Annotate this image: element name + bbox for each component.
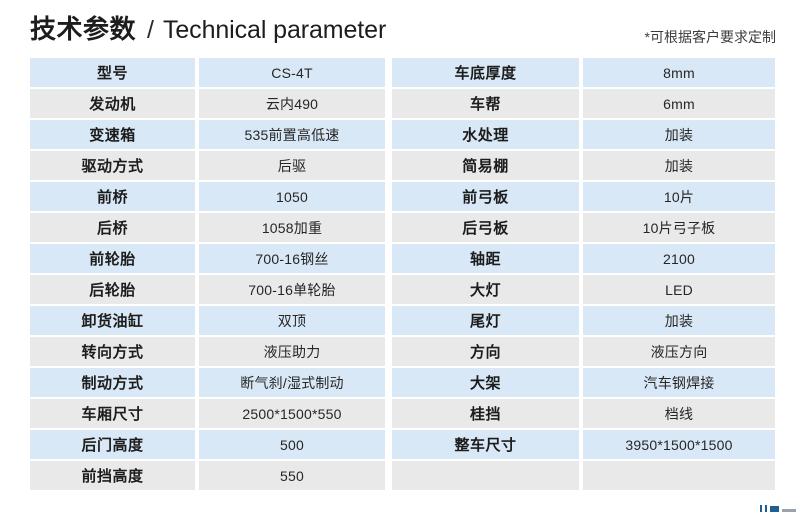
spec-label-cell: 驱动方式 xyxy=(30,151,195,180)
title-separator: / xyxy=(147,16,154,45)
spec-label-cell: 转向方式 xyxy=(30,337,195,366)
spec-value-cell: 10片 xyxy=(583,182,775,211)
spec-label-cell: 后桥 xyxy=(30,213,195,242)
spec-label-cell: 车帮 xyxy=(392,89,579,118)
table-row: 制动方式断气刹/湿式制动 xyxy=(30,368,385,397)
spec-value-cell: 2100 xyxy=(583,244,775,273)
spec-value-cell: 550 xyxy=(199,461,385,490)
spec-value-cell: 535前置高低速 xyxy=(199,120,385,149)
spec-value-cell: 8mm xyxy=(583,58,775,87)
spec-value-cell: 700-16钢丝 xyxy=(199,244,385,273)
spec-label-cell: 大灯 xyxy=(392,275,579,304)
spec-label-cell: 制动方式 xyxy=(30,368,195,397)
spec-value-cell: 双顶 xyxy=(199,306,385,335)
watermark-bar-icon xyxy=(765,505,767,512)
spec-label-cell: 卸货油缸 xyxy=(30,306,195,335)
spec-value-cell: 10片弓子板 xyxy=(583,213,775,242)
table-row: 前挡高度550 xyxy=(30,461,385,490)
spec-value-cell: 1058加重 xyxy=(199,213,385,242)
table-row: 大架汽车钢焊接 xyxy=(392,368,775,397)
table-row: 尾灯加装 xyxy=(392,306,775,335)
spec-label-cell: 型号 xyxy=(30,58,195,87)
spec-label-cell: 水处理 xyxy=(392,120,579,149)
spec-label-cell: 大架 xyxy=(392,368,579,397)
spec-label-cell: 前挡高度 xyxy=(30,461,195,490)
spec-label-cell xyxy=(392,461,579,490)
spec-value-cell: 3950*1500*1500 xyxy=(583,430,775,459)
table-row: 方向液压方向 xyxy=(392,337,775,366)
spec-label-cell: 前桥 xyxy=(30,182,195,211)
spec-value-cell: 断气刹/湿式制动 xyxy=(199,368,385,397)
table-row: 发动机云内490 xyxy=(30,89,385,118)
spec-value-cell xyxy=(583,461,775,490)
table-row: 后轮胎700-16单轮胎 xyxy=(30,275,385,304)
table-row: 型号CS-4T xyxy=(30,58,385,87)
table-row: 简易棚加装 xyxy=(392,151,775,180)
spec-value-cell: 云内490 xyxy=(199,89,385,118)
spec-label-cell: 发动机 xyxy=(30,89,195,118)
spec-value-cell: 后驱 xyxy=(199,151,385,180)
table-row: 水处理加装 xyxy=(392,120,775,149)
table-row: 桂挡档线 xyxy=(392,399,775,428)
table-row: 车厢尺寸2500*1500*550 xyxy=(30,399,385,428)
spec-value-cell: 1050 xyxy=(199,182,385,211)
specification-table-left: 型号CS-4T发动机云内490变速箱535前置高低速驱动方式后驱前桥1050后桥… xyxy=(30,58,385,492)
spec-value-cell: 500 xyxy=(199,430,385,459)
table-row: 轴距2100 xyxy=(392,244,775,273)
spec-label-cell: 尾灯 xyxy=(392,306,579,335)
spec-label-cell: 车底厚度 xyxy=(392,58,579,87)
table-row: 后桥1058加重 xyxy=(30,213,385,242)
watermark-block-icon xyxy=(770,506,779,512)
table-row: 转向方式液压助力 xyxy=(30,337,385,366)
table-row: 后门高度500 xyxy=(30,430,385,459)
table-row: 驱动方式后驱 xyxy=(30,151,385,180)
spec-label-cell: 轴距 xyxy=(392,244,579,273)
table-row: 卸货油缸双顶 xyxy=(30,306,385,335)
spec-value-cell: 档线 xyxy=(583,399,775,428)
table-row: 整车尺寸3950*1500*1500 xyxy=(392,430,775,459)
table-row: 大灯LED xyxy=(392,275,775,304)
page-title-english: Technical parameter xyxy=(163,16,386,45)
spec-value-cell: 加装 xyxy=(583,306,775,335)
watermark-bar-icon xyxy=(760,505,762,512)
spec-label-cell: 方向 xyxy=(392,337,579,366)
spec-label-cell: 变速箱 xyxy=(30,120,195,149)
spec-value-cell: CS-4T xyxy=(199,58,385,87)
table-row: 变速箱535前置高低速 xyxy=(30,120,385,149)
spec-label-cell: 后门高度 xyxy=(30,430,195,459)
table-row: 车底厚度8mm xyxy=(392,58,775,87)
specification-table-right: 车底厚度8mm车帮6mm水处理加装简易棚加装前弓板10片后弓板10片弓子板轴距2… xyxy=(392,58,775,492)
spec-value-cell: LED xyxy=(583,275,775,304)
spec-label-cell: 前弓板 xyxy=(392,182,579,211)
spec-label-cell: 车厢尺寸 xyxy=(30,399,195,428)
table-row: 后弓板10片弓子板 xyxy=(392,213,775,242)
spec-label-cell: 后弓板 xyxy=(392,213,579,242)
spec-label-cell: 前轮胎 xyxy=(30,244,195,273)
spec-value-cell: 6mm xyxy=(583,89,775,118)
page-title-chinese: 技术参数 xyxy=(30,9,136,46)
watermark-line-icon xyxy=(782,509,796,512)
table-row xyxy=(392,461,775,490)
watermark-logo xyxy=(760,502,796,512)
table-row: 前弓板10片 xyxy=(392,182,775,211)
spec-label-cell: 整车尺寸 xyxy=(392,430,579,459)
page-header: 技术参数 / Technical parameter *可根据客户要求定制 xyxy=(0,0,800,58)
spec-value-cell: 汽车钢焊接 xyxy=(583,368,775,397)
table-row: 前轮胎700-16钢丝 xyxy=(30,244,385,273)
spec-label-cell: 简易棚 xyxy=(392,151,579,180)
table-row: 车帮6mm xyxy=(392,89,775,118)
spec-value-cell: 液压助力 xyxy=(199,337,385,366)
spec-label-cell: 桂挡 xyxy=(392,399,579,428)
table-row: 前桥1050 xyxy=(30,182,385,211)
page-title: 技术参数 / Technical parameter xyxy=(30,9,386,46)
spec-value-cell: 加装 xyxy=(583,120,775,149)
spec-value-cell: 加装 xyxy=(583,151,775,180)
spec-value-cell: 700-16单轮胎 xyxy=(199,275,385,304)
spec-value-cell: 液压方向 xyxy=(583,337,775,366)
customization-note: *可根据客户要求定制 xyxy=(645,27,776,47)
spec-value-cell: 2500*1500*550 xyxy=(199,399,385,428)
spec-label-cell: 后轮胎 xyxy=(30,275,195,304)
